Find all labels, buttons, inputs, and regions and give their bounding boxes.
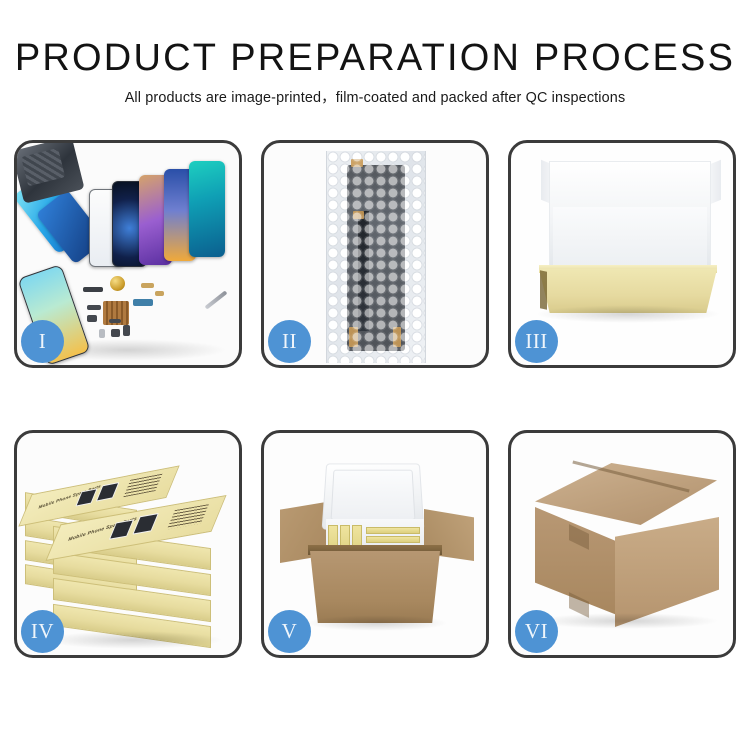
inner-box-h-1: [366, 527, 420, 534]
step-panel-2: II: [261, 140, 489, 368]
carton-body: [310, 551, 440, 623]
step-panel-6: VI: [508, 430, 736, 658]
product-preparation-infographic: PRODUCT PREPARATION PROCESS All products…: [0, 0, 750, 750]
tape-bottom-right: [393, 327, 401, 347]
phone-back-housing: [17, 143, 85, 204]
step-badge-2: II: [268, 320, 311, 363]
step-badge-3: III: [515, 320, 558, 363]
step-badge-1: I: [21, 320, 64, 363]
flex-cable-gold-2: [155, 291, 164, 296]
wrapped-screen-part: [347, 165, 405, 351]
step-panel-5: V: [261, 430, 489, 658]
box-spec-lines-back: [123, 474, 162, 498]
speaker-unit: [111, 329, 120, 337]
step-badge-4: IV: [21, 610, 64, 653]
wrapped-flex-strip: [358, 211, 369, 331]
step-panel-4: Mobile Phone Spare Parts Mobile Phone Sp…: [14, 430, 242, 658]
foam-sheet: [553, 207, 707, 269]
bubble-wrap-bag: [326, 151, 426, 363]
step-badge-6: VI: [515, 610, 558, 653]
carton-top-face: [535, 463, 717, 525]
sim-tray: [99, 329, 105, 338]
step-panel-1: I: [14, 140, 242, 368]
page-subtitle: All products are image-printed，film-coat…: [0, 89, 750, 107]
inner-box-h-2: [366, 536, 420, 543]
box-window-front-1: [109, 519, 134, 539]
speaker-module-gold: [110, 276, 125, 291]
tape-bottom-left: [349, 327, 358, 347]
step-badge-5: V: [268, 610, 311, 653]
page-title: PRODUCT PREPARATION PROCESS: [0, 36, 750, 80]
charging-port-flex: [133, 299, 153, 306]
battery-connector: [83, 287, 103, 292]
carton-right-face: [615, 517, 719, 627]
camera-module: [123, 325, 130, 336]
camera-flex: [87, 305, 101, 310]
flex-cable-gold: [141, 283, 154, 288]
lcd-panel-teal: [189, 161, 225, 257]
process-steps-grid: I II: [14, 140, 736, 658]
tweezers-tool: [205, 290, 228, 309]
tape-middle: [353, 211, 364, 219]
header: PRODUCT PREPARATION PROCESS All products…: [0, 36, 750, 107]
box-spec-lines-front: [167, 504, 209, 529]
vibrator-motor: [87, 315, 97, 322]
step-panel-3: III: [508, 140, 736, 368]
box-corner-edge: [540, 270, 547, 309]
earpiece-mesh: [109, 319, 121, 323]
tape-top: [351, 159, 363, 167]
